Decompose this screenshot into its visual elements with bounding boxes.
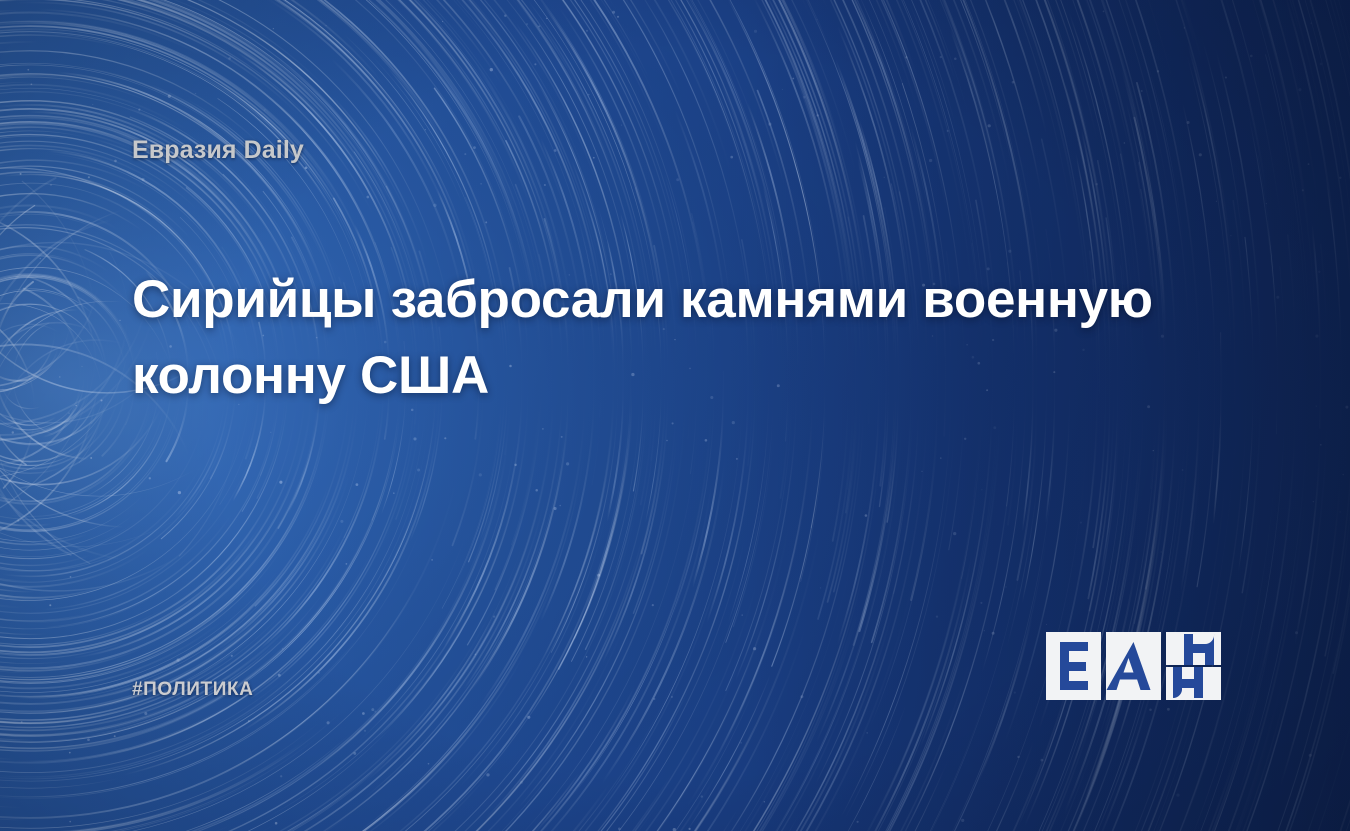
logo-letter-e [1060,642,1088,690]
category-hashtag[interactable]: #ПОЛИТИКА [132,679,254,701]
site-name: Евразия Daily [132,136,304,165]
page-title: Сирийцы забросали камнями военную колонн… [132,262,1202,414]
social-share-card: Евразия Daily Сирийцы забросали камнями … [0,0,1350,831]
eadaily-logo[interactable] [1046,632,1222,702]
